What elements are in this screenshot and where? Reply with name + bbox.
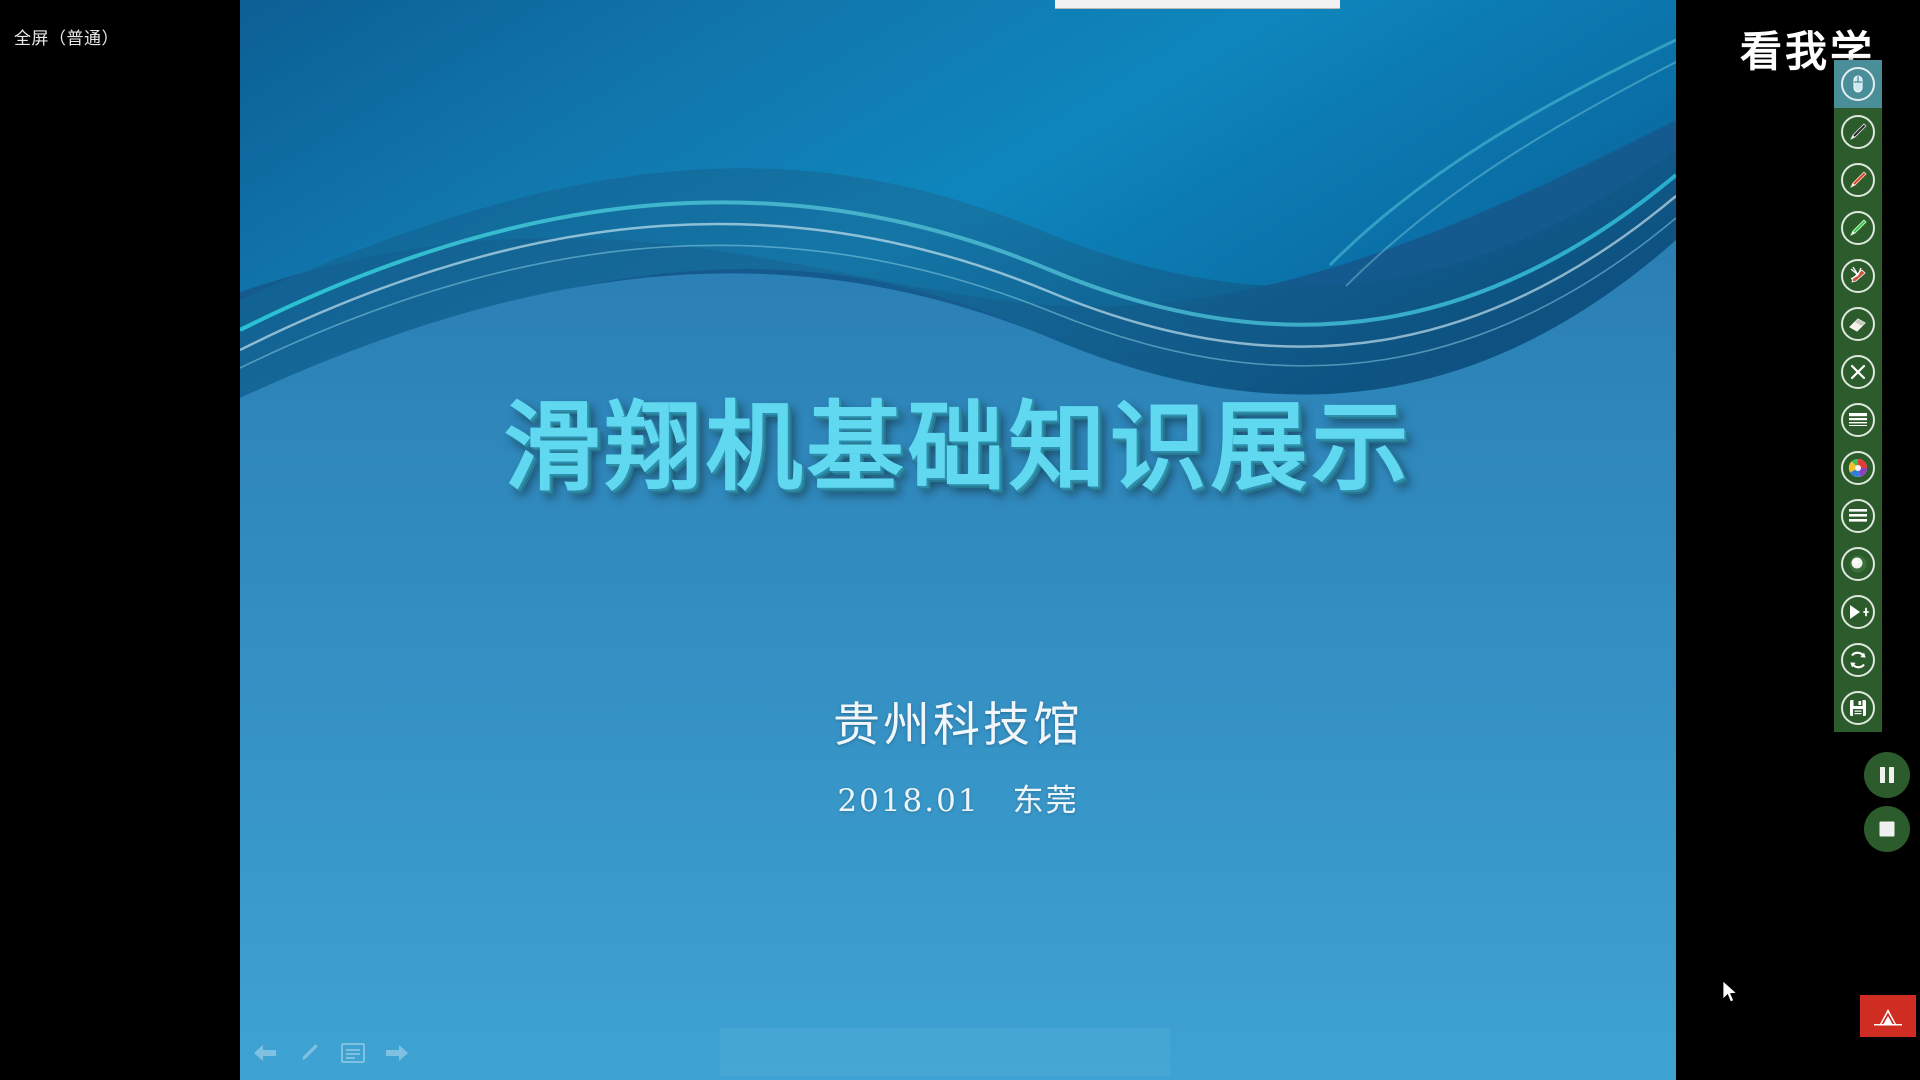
red-pen-icon[interactable] <box>1834 156 1882 204</box>
eraser-icon[interactable] <box>1834 300 1882 348</box>
black-pen-icon[interactable] <box>1834 108 1882 156</box>
screen-root: 全屏（普通） <box>0 0 1920 1080</box>
recorder-playback-controls[interactable] <box>1864 752 1910 860</box>
line-width-icon[interactable] <box>1834 396 1882 444</box>
refresh-icon[interactable] <box>1834 636 1882 684</box>
annotation-tool-rail[interactable] <box>1834 60 1882 732</box>
slide-wave-decoration <box>240 0 1676 1080</box>
highlighter-icon[interactable] <box>1834 252 1882 300</box>
ppt-presenter-toolbar[interactable] <box>248 1038 414 1068</box>
recording-indicator[interactable] <box>1860 995 1916 1037</box>
color-palette-icon[interactable] <box>1834 444 1882 492</box>
previous-slide-button[interactable] <box>248 1038 282 1068</box>
green-pen-icon[interactable] <box>1834 204 1882 252</box>
window-chrome-strip <box>1055 0 1340 9</box>
slide-title: 滑翔机基础知识展示 <box>240 368 1676 509</box>
slide-stage[interactable]: 滑翔机基础知识展示 贵州科技馆 2018.01 东莞 <box>240 0 1676 1080</box>
clear-all-icon[interactable] <box>1834 348 1882 396</box>
mouse-cursor <box>1722 980 1740 1006</box>
mouse-pointer-icon[interactable] <box>1834 60 1882 108</box>
slide-date-location: 2018.01 东莞 <box>240 775 1676 820</box>
pause-button[interactable] <box>1864 752 1910 798</box>
spotlight-icon[interactable] <box>1834 540 1882 588</box>
line-style-icon[interactable] <box>1834 492 1882 540</box>
next-slide-button[interactable] <box>380 1038 414 1068</box>
slide-placeholder-box <box>720 1028 1170 1076</box>
slide-menu-button[interactable] <box>336 1038 370 1068</box>
save-icon[interactable] <box>1834 684 1882 732</box>
slide-organization: 贵州科技馆 <box>240 686 1676 755</box>
stop-button[interactable] <box>1864 806 1910 852</box>
fullscreen-mode-label: 全屏（普通） <box>14 24 119 49</box>
laser-pointer-icon[interactable] <box>1834 588 1882 636</box>
pen-annotation-button[interactable] <box>292 1038 326 1068</box>
